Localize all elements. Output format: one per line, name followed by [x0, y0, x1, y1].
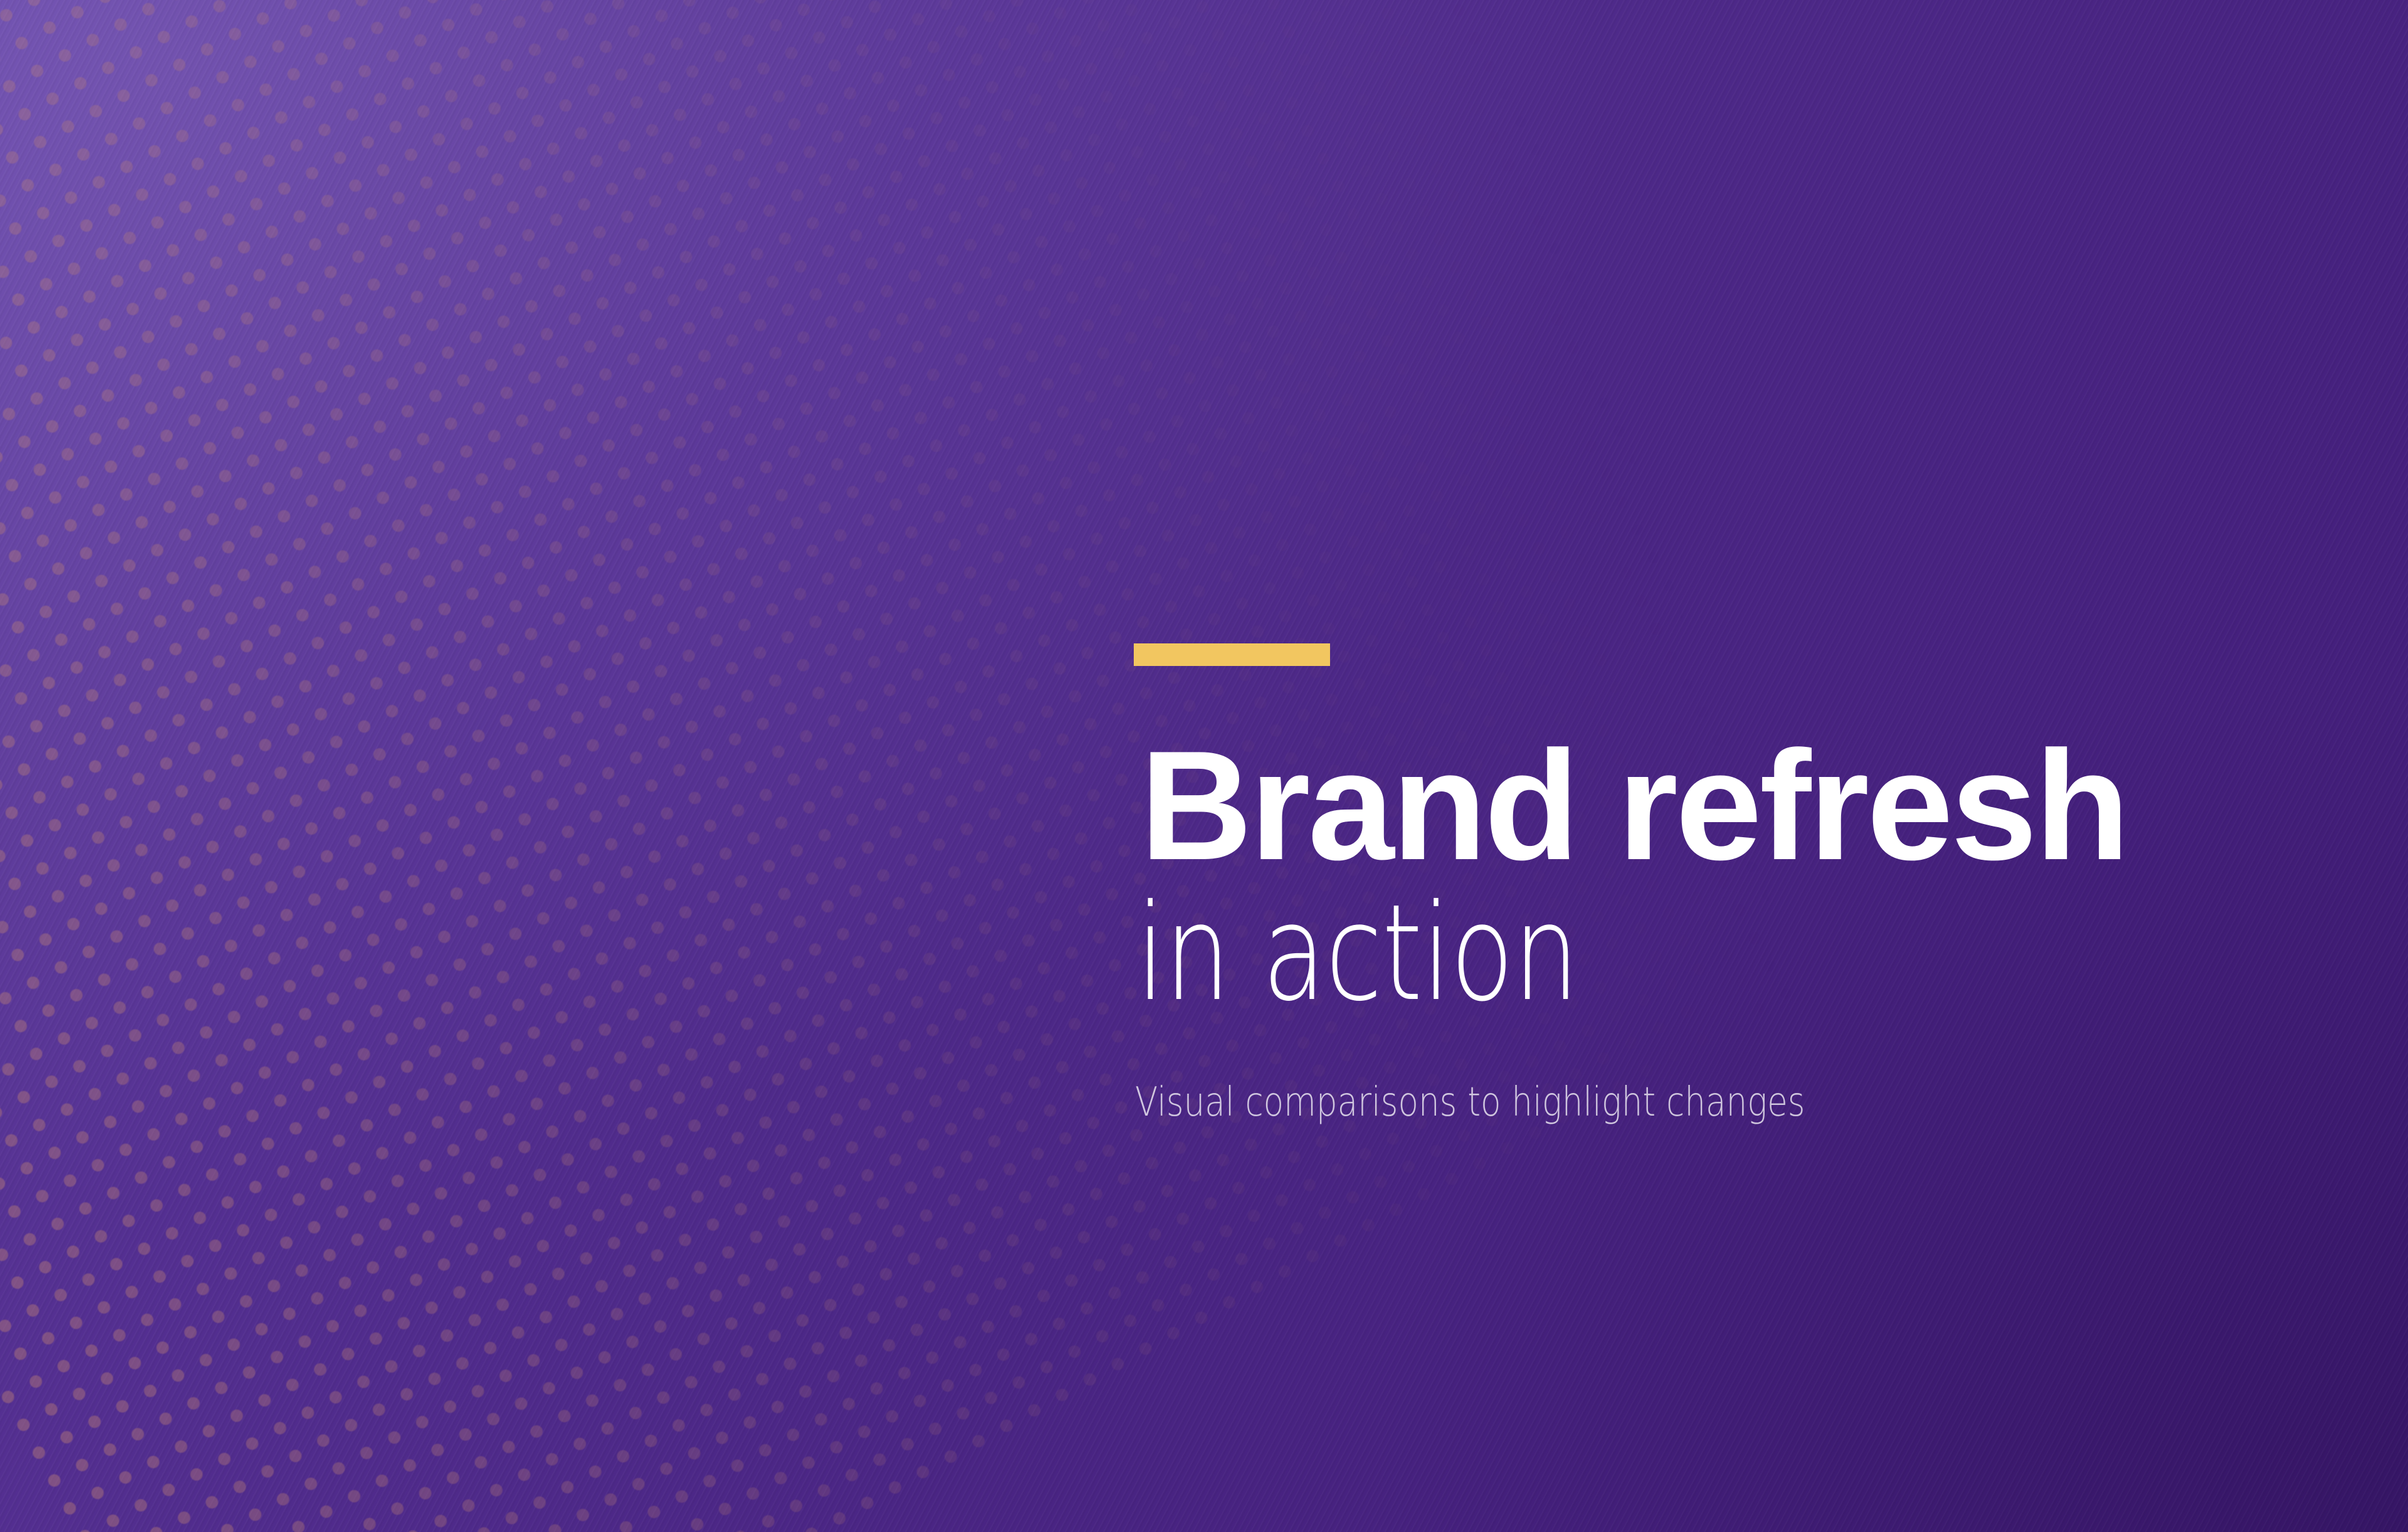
title-line-primary: Brand refresh	[1140, 733, 2199, 878]
title-slide: Brand refresh in action Visual compariso…	[0, 0, 2408, 1532]
title-content-block: Brand refresh in action Visual compariso…	[1133, 635, 2199, 1123]
title-line-secondary: in action	[1136, 887, 1965, 1020]
accent-bar	[1134, 643, 1330, 666]
subtitle: Visual comparisons to highlight changes	[1135, 1082, 2018, 1123]
page-title: Brand refresh in action	[1133, 733, 2199, 1020]
